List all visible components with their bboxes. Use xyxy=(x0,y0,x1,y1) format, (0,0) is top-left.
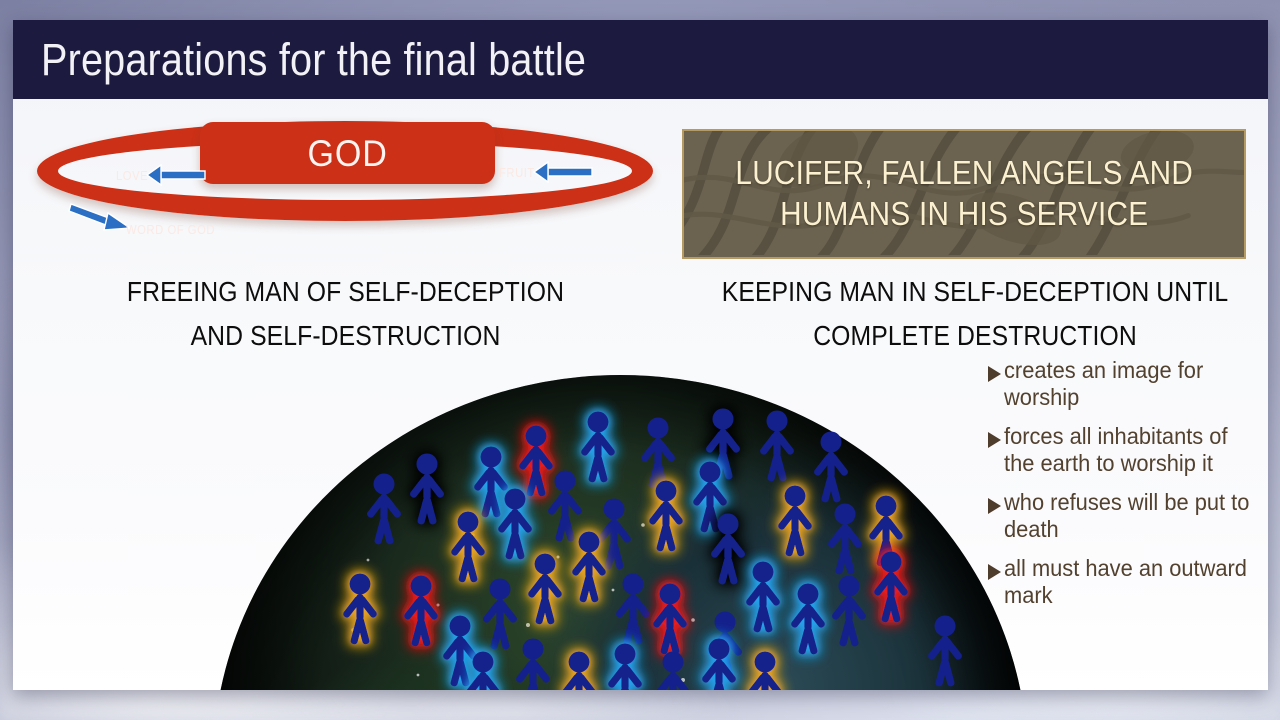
god-box-label: GOD xyxy=(307,135,387,172)
right-caption: KEEPING MAN IN SELF-DECEPTION UNTIL COMP… xyxy=(711,270,1238,358)
globe-limb-shadow xyxy=(213,375,1028,690)
list-item: forces all inhabitants of the earth to w… xyxy=(988,423,1268,478)
left-caption-line-2: AND SELF-DESTRUCTION xyxy=(46,314,645,358)
bullet-text: all must have an outward mark xyxy=(1004,555,1259,610)
slide: Preparations for the final battle GOD LO… xyxy=(13,20,1268,690)
label-love: LOVE xyxy=(116,169,148,183)
triangle-bullet-icon xyxy=(988,498,1001,514)
god-box: GOD xyxy=(200,122,495,184)
lucifer-banner-text: LUCIFER, FALLEN ANGELS AND HUMANS IN HIS… xyxy=(735,153,1193,234)
label-fruit: FRUIT xyxy=(499,166,535,180)
right-caption-line-2: COMPLETE DESTRUCTION xyxy=(711,314,1238,358)
love-arrow-icon xyxy=(145,164,207,186)
banner-line-1: LUCIFER, FALLEN ANGELS AND xyxy=(735,153,1193,194)
lucifer-banner: LUCIFER, FALLEN ANGELS AND HUMANS IN HIS… xyxy=(682,129,1246,259)
triangle-bullet-icon xyxy=(988,564,1001,580)
list-item: all must have an outward mark xyxy=(988,555,1268,610)
bullet-list: creates an image for worship forces all … xyxy=(988,357,1268,621)
bullet-text: who refuses will be put to death xyxy=(1004,489,1259,544)
label-word-of-god: WORD OF GOD xyxy=(126,223,215,237)
triangle-bullet-icon xyxy=(988,432,1001,448)
right-caption-line-1: KEEPING MAN IN SELF-DECEPTION UNTIL xyxy=(711,270,1238,314)
list-item: creates an image for worship xyxy=(988,357,1268,412)
earth-illustration xyxy=(213,375,1033,690)
fruit-arrow-icon xyxy=(532,161,594,183)
word-of-god-arrow-icon xyxy=(68,201,132,231)
slide-title-bar: Preparations for the final battle xyxy=(13,20,1268,99)
page-title: Preparations for the final battle xyxy=(41,37,586,82)
list-item: who refuses will be put to death xyxy=(988,489,1268,544)
left-caption: FREEING MAN OF SELF-DECEPTION AND SELF-D… xyxy=(46,270,645,358)
banner-line-2: HUMANS IN HIS SERVICE xyxy=(735,194,1193,235)
left-caption-line-1: FREEING MAN OF SELF-DECEPTION xyxy=(46,270,645,314)
globe-icon xyxy=(213,375,1028,690)
bullet-text: forces all inhabitants of the earth to w… xyxy=(1004,423,1259,478)
triangle-bullet-icon xyxy=(988,366,1001,382)
screen: Preparations for the final battle GOD LO… xyxy=(0,0,1280,720)
bullet-text: creates an image for worship xyxy=(1004,357,1259,412)
